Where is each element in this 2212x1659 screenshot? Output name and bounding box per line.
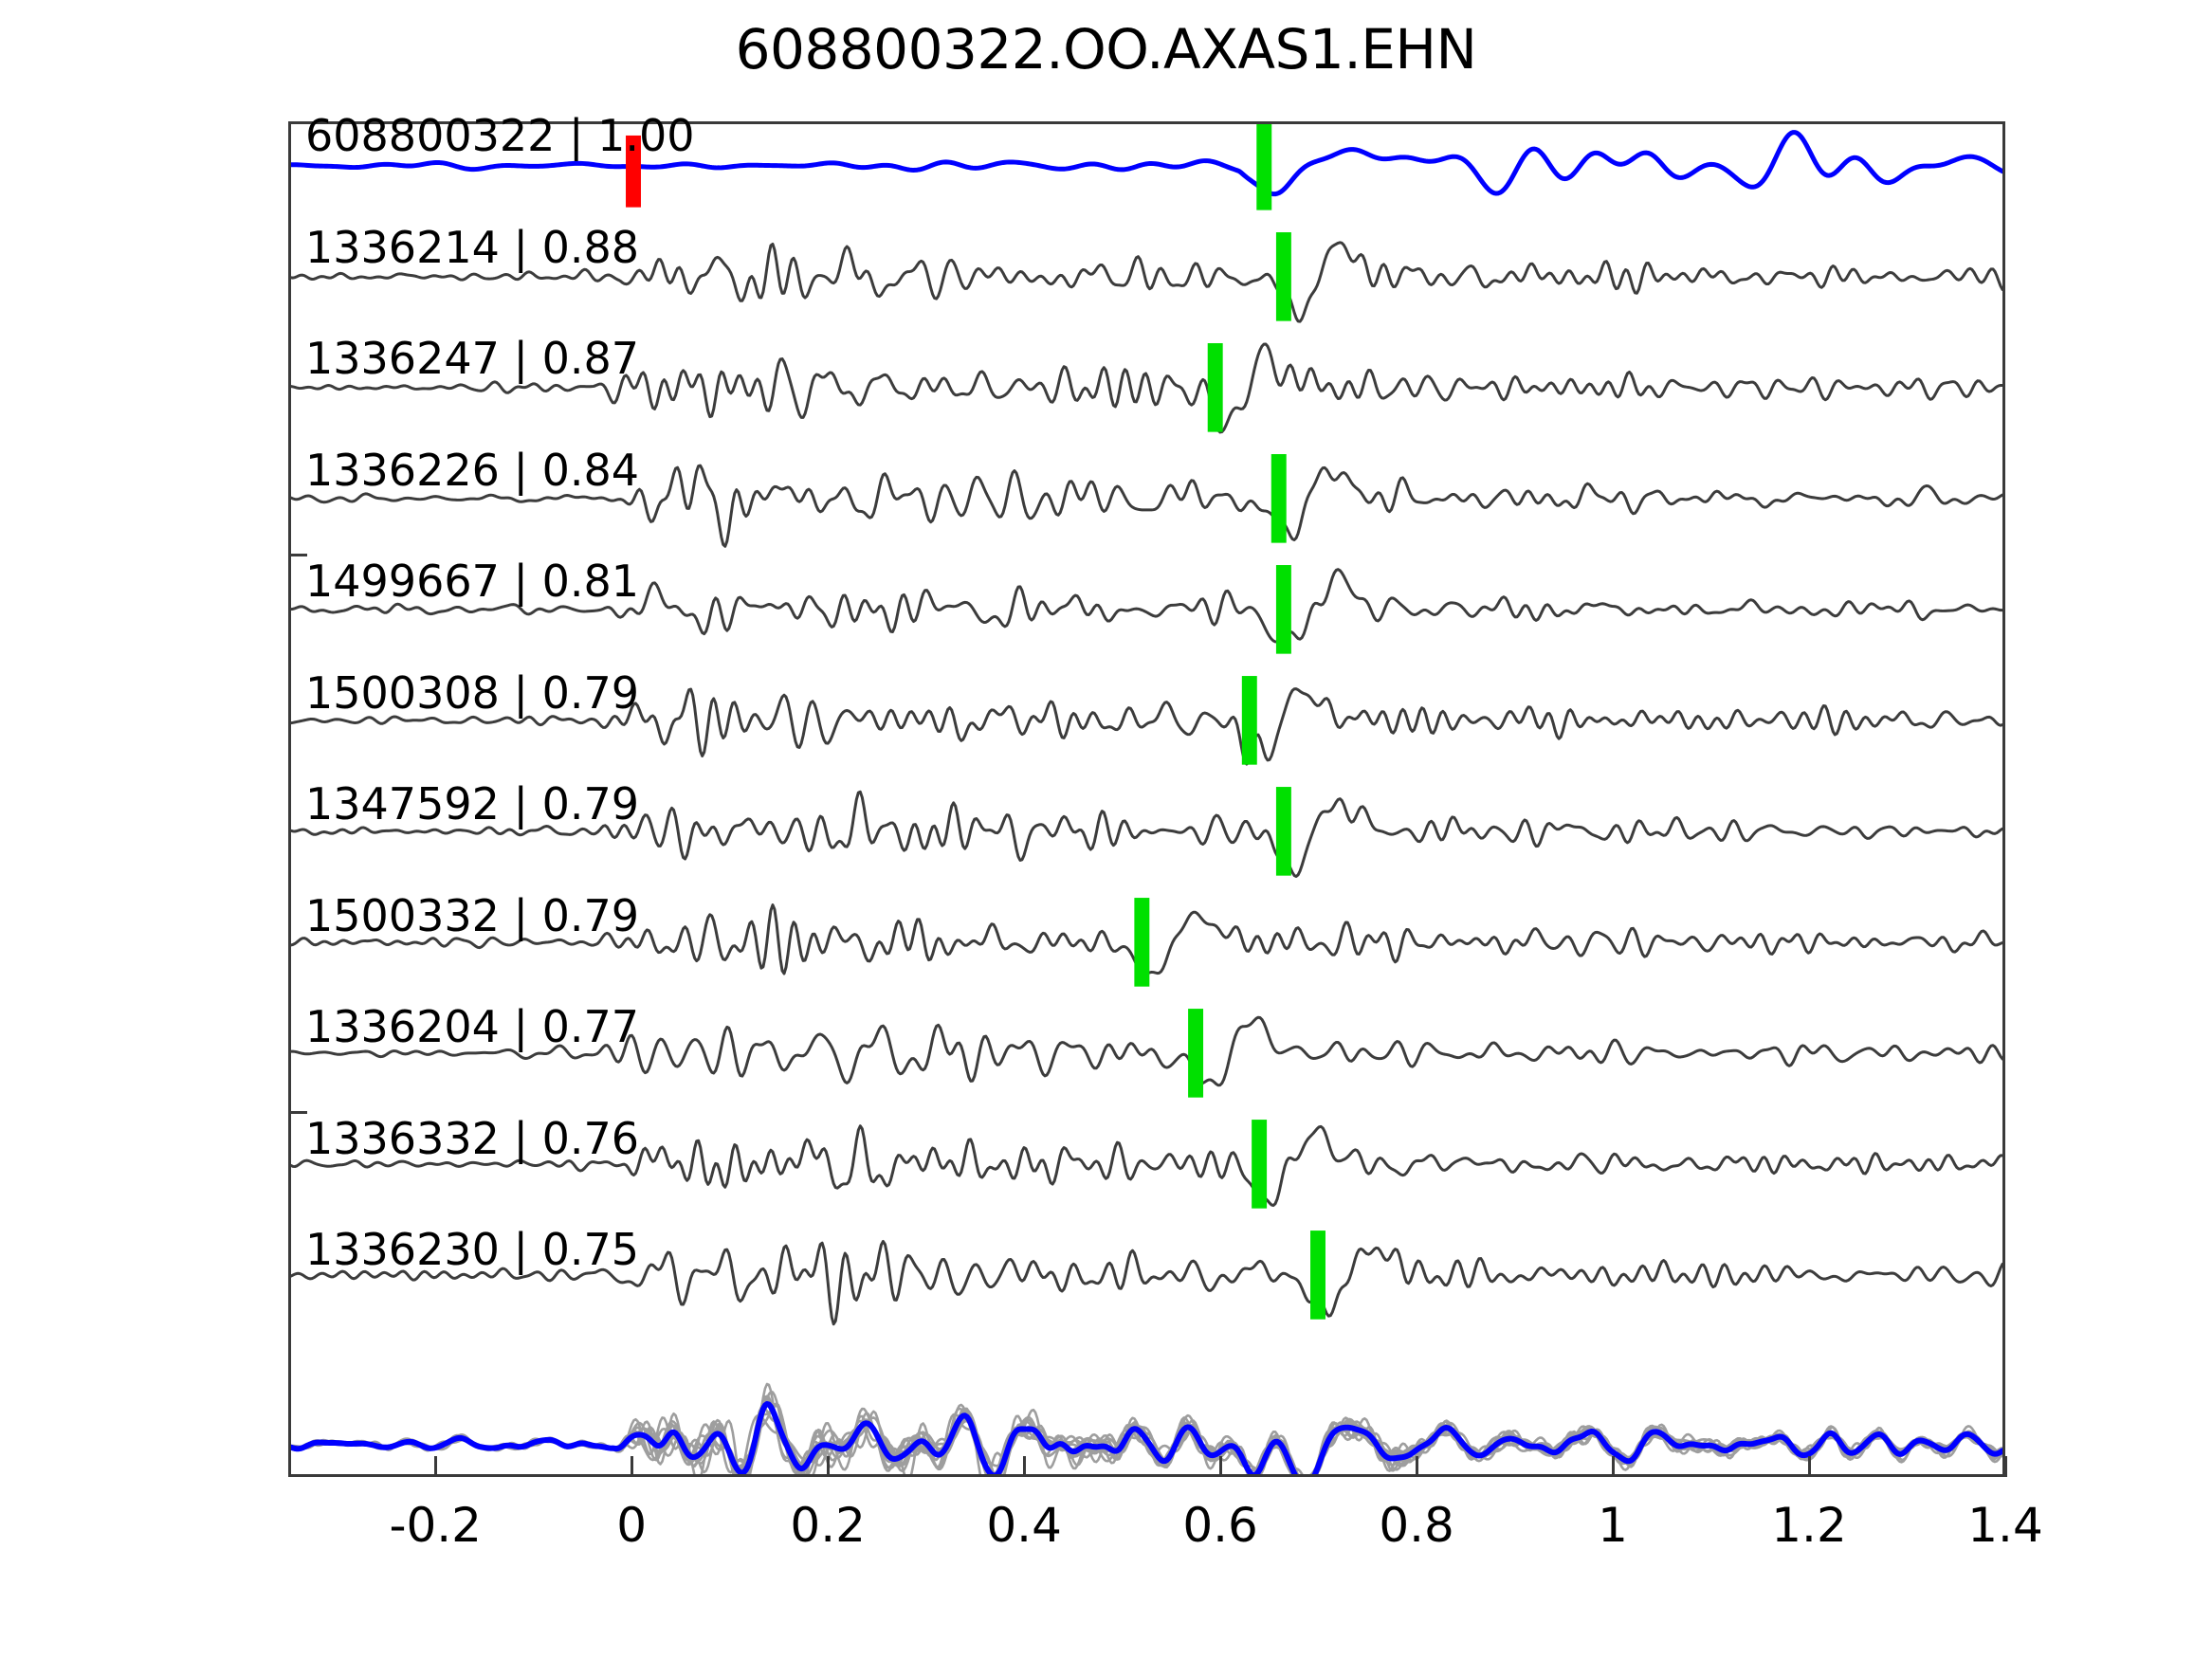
trace-label: 1336247 | 0.87 (305, 333, 639, 384)
trace-label: 1499667 | 0.81 (305, 556, 639, 607)
x-tick-label: 0 (616, 1498, 647, 1553)
trace-label: 1347592 | 0.79 (305, 778, 639, 829)
x-tick-label: 1.4 (1967, 1498, 2043, 1553)
x-tick-mark (1416, 1456, 1418, 1477)
pick-marker (1276, 787, 1291, 876)
trace-label: 1336230 | 0.75 (305, 1224, 639, 1275)
figure-canvas: 608800322.OO.AXAS1.EHN 608800322 | 1.001… (0, 0, 2212, 1659)
x-tick-mark (1808, 1456, 1811, 1477)
x-tick-label: 1.2 (1771, 1498, 1847, 1553)
x-tick-mark (1612, 1456, 1615, 1477)
x-tick-mark (827, 1456, 830, 1477)
x-tick-label: 0.6 (1182, 1498, 1258, 1553)
pick-marker (1276, 565, 1291, 654)
y-tick-mark (288, 554, 307, 556)
x-tick-mark (2004, 1456, 2007, 1477)
x-tick-mark (1219, 1456, 1222, 1477)
x-tick-mark (1023, 1456, 1026, 1477)
trace-label: 1500308 | 0.79 (305, 667, 639, 719)
y-tick-mark (288, 1111, 307, 1114)
x-tick-label: 0.4 (986, 1498, 1062, 1553)
pick-marker (1256, 124, 1271, 210)
x-tick-label: 1 (1598, 1498, 1628, 1553)
pick-marker (1242, 676, 1257, 765)
x-tick-label: 0.8 (1379, 1498, 1454, 1553)
trace-label: 608800322 | 1.00 (305, 110, 695, 161)
pick-marker (1252, 1120, 1267, 1209)
trace-label: 1336332 | 0.76 (305, 1113, 639, 1164)
pick-marker (1271, 454, 1287, 543)
pick-marker (1208, 343, 1223, 432)
x-tick-label: -0.2 (389, 1498, 482, 1553)
pick-marker (1134, 898, 1149, 987)
trace-label: 1336226 | 0.84 (305, 445, 639, 496)
pick-marker (1310, 1231, 1325, 1320)
trace-label: 1500332 | 0.79 (305, 890, 639, 941)
trace-label: 1336214 | 0.88 (305, 222, 639, 273)
x-tick-label: 0.2 (790, 1498, 866, 1553)
pick-marker (1276, 232, 1291, 321)
page-title: 608800322.OO.AXAS1.EHN (0, 17, 2212, 82)
pick-marker (1188, 1009, 1203, 1098)
trace-label: 1336204 | 0.77 (305, 1001, 639, 1052)
x-tick-mark (631, 1456, 633, 1477)
x-tick-mark (434, 1456, 437, 1477)
